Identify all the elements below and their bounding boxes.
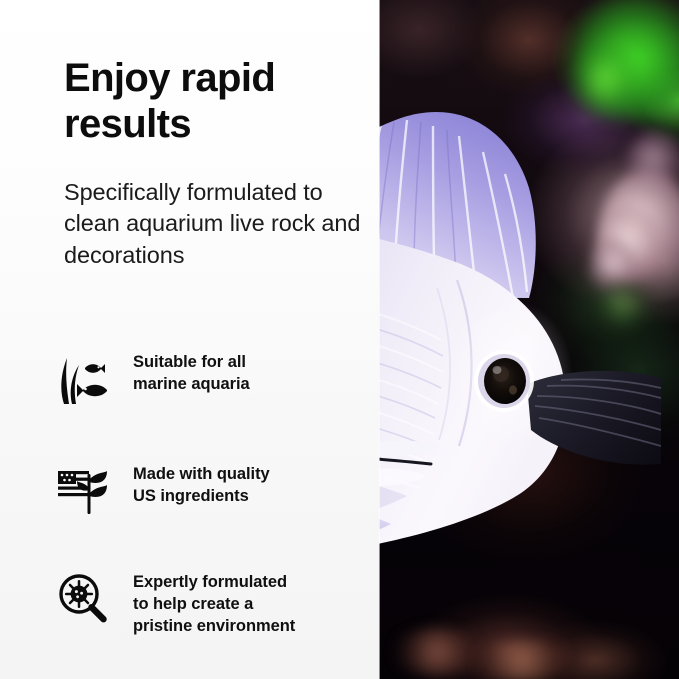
us-flag-plant-icon [52, 460, 114, 522]
feature-label: Suitable for all marine aquaria [133, 348, 250, 396]
coral-cluster [467, 640, 577, 679]
feature-label: Made with quality US ingredients [133, 460, 270, 508]
fish-seaweed-icon [52, 348, 114, 410]
photo-stage [379, 0, 679, 679]
fish-eye [474, 350, 534, 412]
feature-item-pristine-environment: Expertly formulated to help create a pri… [0, 568, 379, 638]
feature-label: Expertly formulated to help create a pri… [133, 568, 295, 638]
feature-item-us-ingredients: Made with quality US ingredients [0, 460, 379, 522]
feature-item-marine-aquaria: Suitable for all marine aquaria [0, 348, 379, 410]
subheading-text: Specifically formulated to clean aquariu… [64, 177, 364, 271]
promo-canvas: Enjoy rapid results Specifically formula… [0, 0, 679, 679]
left-content-panel: Enjoy rapid results Specifically formula… [0, 0, 379, 679]
magnifier-microbe-icon [52, 568, 114, 630]
product-photo [379, 0, 679, 679]
fish-subject [379, 84, 661, 554]
panel-divider [379, 0, 380, 679]
page-title: Enjoy rapid results [64, 56, 354, 147]
